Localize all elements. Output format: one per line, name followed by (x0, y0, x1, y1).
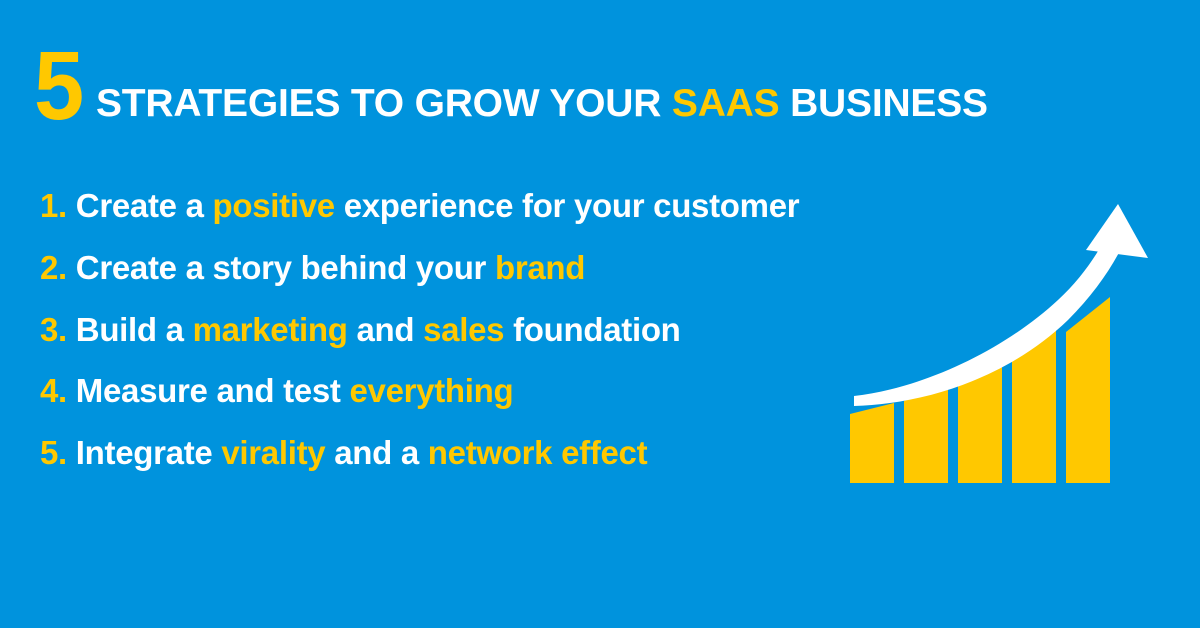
list-item-highlight-primary: virality (221, 434, 325, 471)
list-item-highlight-primary: brand (495, 249, 585, 286)
headline-text: STRATEGIES TO GROW YOUR SAAS BUSINESS (96, 84, 988, 123)
headline-highlight-saas: SAAS (672, 82, 780, 125)
list-item-text-middle: and (348, 311, 424, 348)
list-item-highlight-secondary: network effect (428, 434, 648, 471)
list-item-number: 1. (40, 187, 67, 224)
list-item-text: Build a marketing and sales foundation (76, 311, 681, 348)
list-item: 4. Measure and test everything (40, 365, 840, 418)
headline-number: 5 (34, 46, 81, 126)
list-item-highlight-primary: positive (213, 187, 335, 224)
list-item-text-after: foundation (504, 311, 680, 348)
list-item-highlight-secondary: sales (423, 311, 504, 348)
page-title: 5 STRATEGIES TO GROW YOUR SAAS BUSINESS (34, 46, 988, 126)
chart-bar-1 (850, 403, 894, 483)
list-item-text-before: Create a (76, 187, 213, 224)
list-item-text-middle: and a (325, 434, 427, 471)
list-item: 3. Build a marketing and sales foundatio… (40, 304, 840, 357)
list-item: 2. Create a story behind your brand (40, 242, 840, 295)
infographic-poster: 5 STRATEGIES TO GROW YOUR SAAS BUSINESS … (0, 0, 1200, 628)
headline-text-before: STRATEGIES TO GROW YOUR (96, 82, 672, 125)
growth-chart-icon (828, 182, 1168, 502)
list-item-number: 3. (40, 311, 67, 348)
list-item: 1. Create a positive experience for your… (40, 180, 840, 233)
list-item-text: Create a story behind your brand (76, 249, 585, 286)
list-item-text-before: Build a (76, 311, 193, 348)
headline-text-after: BUSINESS (779, 82, 987, 125)
list-item-highlight-primary: everything (349, 372, 513, 409)
list-item-text: Integrate virality and a network effect (76, 434, 648, 471)
list-item-highlight-primary: marketing (193, 311, 348, 348)
list-item: 5. Integrate virality and a network effe… (40, 427, 840, 480)
chart-bar-5 (1066, 297, 1110, 483)
list-item-text-before: Create a story behind your (76, 249, 495, 286)
list-item-text-before: Integrate (76, 434, 222, 471)
list-item-text: Create a positive experience for your cu… (76, 187, 800, 224)
growth-chart-svg (828, 182, 1168, 502)
list-item-text: Measure and test everything (76, 372, 514, 409)
list-item-number: 4. (40, 372, 67, 409)
list-item-number: 2. (40, 249, 67, 286)
list-item-number: 5. (40, 434, 67, 471)
list-item-text-before: Measure and test (76, 372, 350, 409)
list-item-text-middle: experience for your customer (335, 187, 799, 224)
strategy-list: 1. Create a positive experience for your… (40, 180, 840, 480)
